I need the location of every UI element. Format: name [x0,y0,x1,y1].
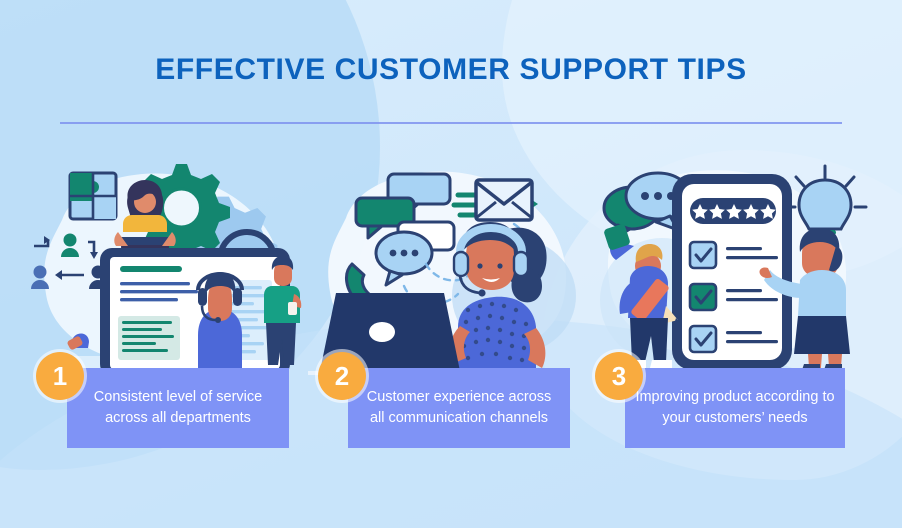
tips-row: 1 Consistent level of service across all… [0,160,902,460]
tip-caption-1: Consistent level of service across all d… [67,368,289,448]
illustration-support-agent-on-monitor [22,160,312,375]
tip-caption-2: Customer experience across all communica… [348,368,570,448]
tip-card-3: 3 Improving product according to your cu… [592,160,882,460]
puzzle-icon [70,173,116,219]
tip-badge-2: 2 [318,352,366,400]
page-title: EFFECTIVE CUSTOMER SUPPORT TIPS [0,53,902,87]
monitor-icon [100,248,290,375]
tip-badge-1: 1 [36,352,84,400]
star-rating-icon [690,198,776,224]
infographic-canvas: EFFECTIVE CUSTOMER SUPPORT TIPS [0,0,902,528]
tip-badge-3: 3 [595,352,643,400]
tip-card-2: 2 Customer experience across all communi… [308,160,598,460]
illustration-feedback-checklist [592,160,882,375]
illustration-omnichannel-agent [308,160,598,375]
tip-caption-3: Improving product according to your cust… [625,368,845,448]
tip-card-1: 1 Consistent level of service across all… [22,160,312,460]
title-divider [60,122,842,124]
checklist-board [672,174,792,370]
